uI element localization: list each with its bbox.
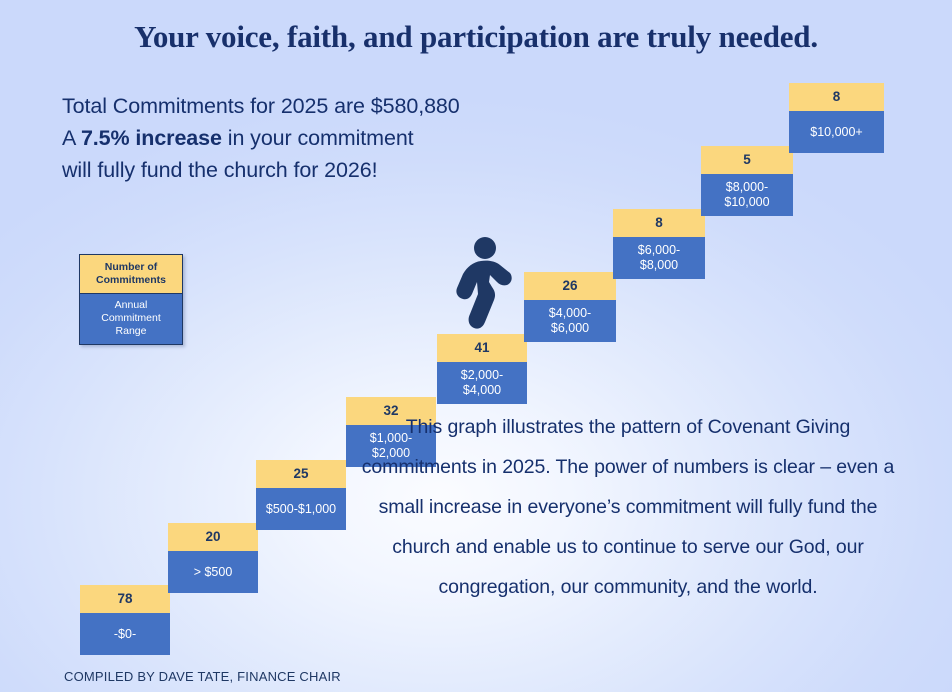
page-title: Your voice, faith, and participation are… (0, 19, 952, 55)
legend-count-label: Number of Commitments (80, 255, 182, 293)
step-count: 5 (701, 146, 793, 174)
statement-line-2-suffix: in your commitment (222, 126, 414, 150)
step-range: $8,000- $10,000 (701, 174, 793, 216)
footer-credit: COMPILED BY DAVE TATE, FINANCE CHAIR (64, 669, 341, 684)
step-range: -$0- (80, 613, 170, 655)
walking-person-icon (451, 236, 515, 336)
legend-range-label: Annual Commitment Range (80, 293, 182, 344)
step-count: 8 (789, 83, 884, 111)
statement-line-2-prefix: A (62, 126, 81, 150)
step-count: 20 (168, 523, 258, 551)
step-range: $4,000- $6,000 (524, 300, 616, 342)
step-bar: 25$500-$1,000 (256, 460, 346, 530)
step-bar: 8$6,000- $8,000 (613, 209, 705, 279)
step-range: $6,000- $8,000 (613, 237, 705, 279)
step-count: 41 (437, 334, 527, 362)
step-count: 25 (256, 460, 346, 488)
step-bar: 20> $500 (168, 523, 258, 593)
step-bar: 8$10,000+ (789, 83, 884, 153)
statement-line-3: will fully fund the church for 2026! (62, 154, 460, 186)
poster-canvas: Your voice, faith, and participation are… (0, 0, 952, 692)
step-range: $2,000- $4,000 (437, 362, 527, 404)
step-range: > $500 (168, 551, 258, 593)
statement-increase-highlight: 7.5% increase (81, 126, 222, 150)
step-range: $10,000+ (789, 111, 884, 153)
statement-line-1: Total Commitments for 2025 are $580,880 (62, 90, 460, 122)
step-bar: 26$4,000- $6,000 (524, 272, 616, 342)
step-bar: 78-$0- (80, 585, 170, 655)
step-bar: 5$8,000- $10,000 (701, 146, 793, 216)
step-count: 78 (80, 585, 170, 613)
statement-line-2: A 7.5% increase in your commitment (62, 122, 460, 154)
chart-legend-key: Number of Commitments Annual Commitment … (79, 254, 183, 345)
explanatory-paragraph: This graph illustrates the pattern of Co… (352, 407, 904, 607)
commitment-statement: Total Commitments for 2025 are $580,880 … (62, 90, 460, 186)
step-bar: 41$2,000- $4,000 (437, 334, 527, 404)
step-count: 26 (524, 272, 616, 300)
step-range: $500-$1,000 (256, 488, 346, 530)
step-count: 8 (613, 209, 705, 237)
